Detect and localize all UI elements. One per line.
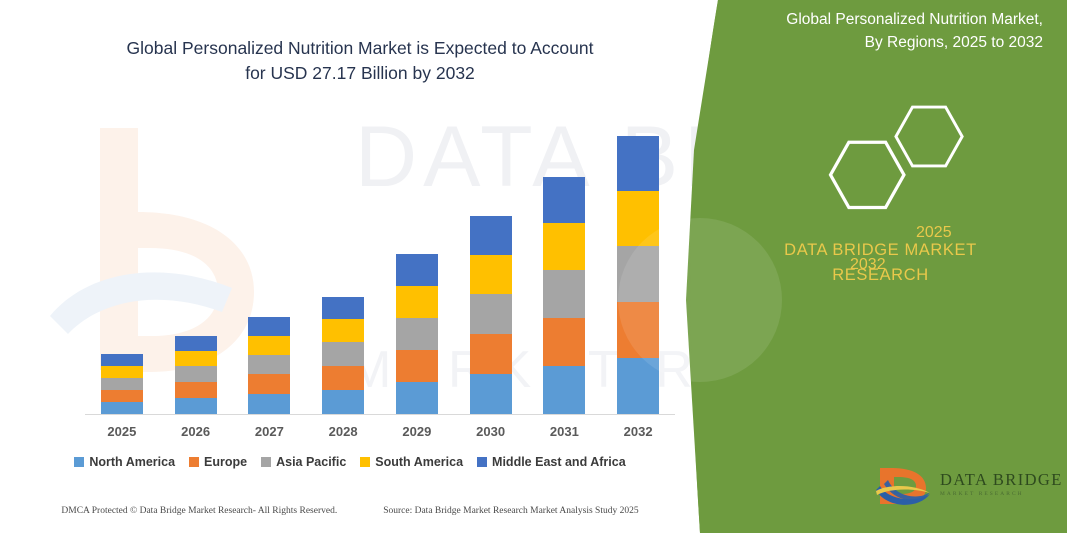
bar-segment[interactable] <box>617 358 659 414</box>
legend-label: South America <box>375 455 463 469</box>
bar-2032[interactable] <box>617 136 659 414</box>
chart-legend: North AmericaEuropeAsia PacificSouth Ame… <box>0 455 700 469</box>
bar-segment[interactable] <box>175 366 217 382</box>
footer-source: Source: Data Bridge Market Research Mark… <box>383 506 638 516</box>
legend-swatch-icon <box>477 457 487 467</box>
bar-2030[interactable] <box>470 216 512 414</box>
legend-swatch-icon <box>189 457 199 467</box>
legend-swatch-icon <box>360 457 370 467</box>
bar-segment[interactable] <box>175 382 217 398</box>
bar-segment[interactable] <box>617 191 659 246</box>
hexagon-2032-icon <box>831 142 904 207</box>
x-tick-2030: 2030 <box>456 424 526 439</box>
legend-item-north-america[interactable]: North America <box>74 455 175 469</box>
bar-segment[interactable] <box>248 355 290 374</box>
green-panel-content: Global Personalized Nutrition Market, By… <box>694 0 1067 533</box>
x-tick-2031: 2031 <box>529 424 599 439</box>
logo-title: DATA BRIDGE <box>940 470 1063 490</box>
chart-title-line-2: for USD 27.17 Billion by 2032 <box>60 61 660 86</box>
footer: DMCA Protected © Data Bridge Market Rese… <box>0 506 700 516</box>
bar-segment[interactable] <box>248 336 290 355</box>
legend-label: Asia Pacific <box>276 455 346 469</box>
bar-segment[interactable] <box>470 374 512 414</box>
stacked-bar-chart <box>85 120 675 415</box>
panel-title: Global Personalized Nutrition Market, By… <box>723 8 1043 54</box>
bar-segment[interactable] <box>101 366 143 378</box>
bar-segment[interactable] <box>101 390 143 402</box>
legend-label: Europe <box>204 455 247 469</box>
bar-segment[interactable] <box>322 319 364 342</box>
chart-title-line-1: Global Personalized Nutrition Market is … <box>60 36 660 61</box>
bar-segment[interactable] <box>543 366 585 414</box>
bar-segment[interactable] <box>470 334 512 374</box>
bar-2031[interactable] <box>543 177 585 414</box>
legend-item-europe[interactable]: Europe <box>189 455 247 469</box>
bar-segment[interactable] <box>248 317 290 336</box>
bar-segment[interactable] <box>175 398 217 414</box>
bar-2028[interactable] <box>322 297 364 414</box>
panel-brand-line-1: DATA BRIDGE MARKET <box>694 238 1067 263</box>
legend-label: North America <box>89 455 175 469</box>
bar-segment[interactable] <box>396 254 438 286</box>
legend-item-middle-east-and-africa[interactable]: Middle East and Africa <box>477 455 626 469</box>
bar-segment[interactable] <box>322 297 364 319</box>
bar-segment[interactable] <box>543 223 585 270</box>
panel-title-line-2: By Regions, 2025 to 2032 <box>723 31 1043 54</box>
bar-segment[interactable] <box>396 350 438 382</box>
x-axis-tick-labels: 20252026202720282029203020312032 <box>85 424 675 444</box>
x-axis-line <box>85 414 675 415</box>
bar-segment[interactable] <box>396 318 438 350</box>
bar-segment[interactable] <box>543 270 585 318</box>
panel-brand: DATA BRIDGE MARKET RESEARCH <box>694 238 1067 288</box>
x-tick-2027: 2027 <box>234 424 304 439</box>
bar-segment[interactable] <box>470 216 512 255</box>
data-bridge-logo: DATA BRIDGE MARKET RESEARCH <box>874 462 1064 520</box>
panel-brand-line-2: RESEARCH <box>694 263 1067 288</box>
bar-segment[interactable] <box>101 378 143 390</box>
x-tick-2032: 2032 <box>603 424 673 439</box>
bar-segment[interactable] <box>101 354 143 366</box>
bar-segment[interactable] <box>396 286 438 318</box>
bar-2026[interactable] <box>175 336 217 414</box>
legend-swatch-icon <box>74 457 84 467</box>
x-tick-2025: 2025 <box>87 424 157 439</box>
bar-2025[interactable] <box>101 354 143 414</box>
panel-title-line-1: Global Personalized Nutrition Market, <box>723 8 1043 31</box>
bar-segment[interactable] <box>396 382 438 414</box>
chart-title: Global Personalized Nutrition Market is … <box>60 36 660 86</box>
bar-segment[interactable] <box>617 136 659 191</box>
bar-2027[interactable] <box>248 317 290 414</box>
data-bridge-logo-mark-icon <box>874 464 934 514</box>
bar-segment[interactable] <box>470 294 512 334</box>
bar-segment[interactable] <box>617 302 659 358</box>
bar-segment[interactable] <box>248 394 290 414</box>
x-tick-2028: 2028 <box>308 424 378 439</box>
logo-subtitle: MARKET RESEARCH <box>940 491 1024 497</box>
hexagon-2025-icon <box>896 107 962 166</box>
bar-segment[interactable] <box>617 246 659 302</box>
legend-label: Middle East and Africa <box>492 455 626 469</box>
legend-item-south-america[interactable]: South America <box>360 455 463 469</box>
bar-segment[interactable] <box>101 402 143 414</box>
bar-segment[interactable] <box>175 351 217 366</box>
footer-copyright: DMCA Protected © Data Bridge Market Rese… <box>61 506 337 516</box>
bar-segment[interactable] <box>322 390 364 414</box>
bar-segment[interactable] <box>470 255 512 294</box>
legend-item-asia-pacific[interactable]: Asia Pacific <box>261 455 346 469</box>
bar-segment[interactable] <box>543 177 585 223</box>
hexagon-group: 2025 2032 <box>794 96 994 221</box>
bar-segment[interactable] <box>543 318 585 366</box>
bar-segment[interactable] <box>175 336 217 351</box>
bar-segment[interactable] <box>248 374 290 394</box>
bar-segment[interactable] <box>322 366 364 390</box>
bar-segment[interactable] <box>322 342 364 366</box>
infographic-root: DATA BRIDGE MARKET RESEARCH Global Perso… <box>0 0 1067 533</box>
legend-swatch-icon <box>261 457 271 467</box>
bar-2029[interactable] <box>396 254 438 414</box>
x-tick-2029: 2029 <box>382 424 452 439</box>
x-tick-2026: 2026 <box>161 424 231 439</box>
